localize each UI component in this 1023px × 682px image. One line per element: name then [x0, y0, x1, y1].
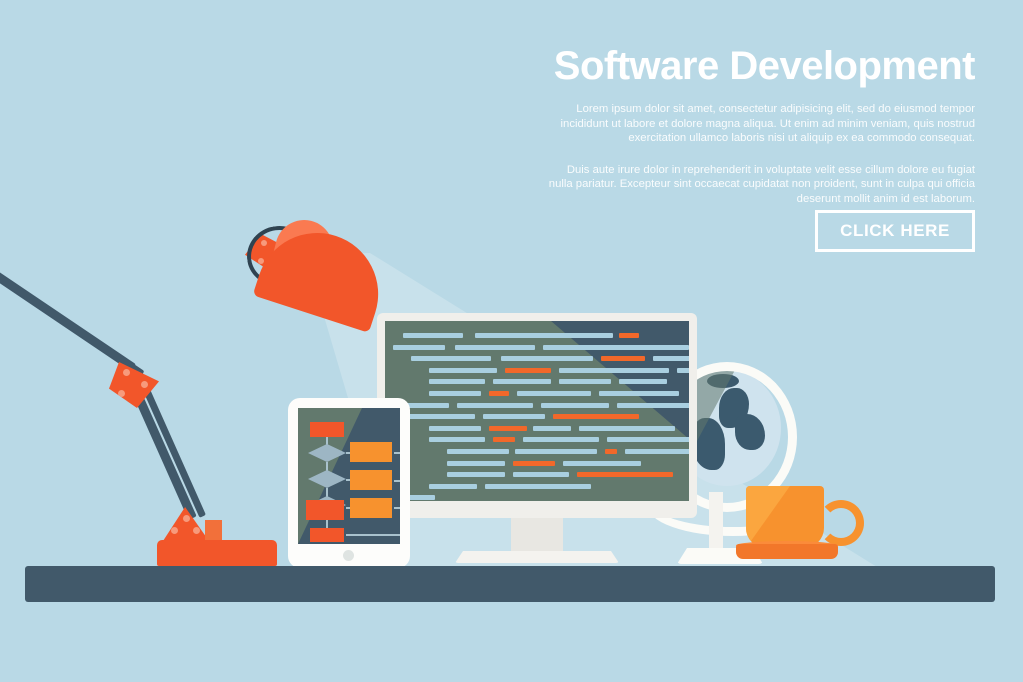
code-token — [447, 449, 509, 454]
code-token-highlight — [601, 356, 645, 361]
flowchart-connector — [346, 534, 400, 536]
code-token — [619, 379, 667, 384]
code-token — [403, 333, 463, 338]
code-token — [447, 461, 505, 466]
saucer — [736, 544, 838, 559]
flowchart-process-node — [350, 470, 392, 490]
code-token — [429, 391, 481, 396]
code-token — [483, 414, 545, 419]
code-token — [475, 333, 613, 338]
text-panel: Software Development Lorem ipsum dolor s… — [540, 44, 975, 207]
code-token-highlight — [605, 449, 617, 454]
code-token — [559, 368, 669, 373]
code-token-highlight — [577, 472, 673, 477]
body-paragraph-2: Duis aute irure dolor in reprehenderit i… — [540, 163, 975, 207]
code-token — [429, 484, 477, 489]
cup-handle — [818, 500, 864, 546]
illustration-canvas: Software Development Lorem ipsum dolor s… — [0, 0, 1023, 682]
code-token — [625, 449, 689, 454]
code-token — [579, 426, 675, 431]
desktop-monitor — [377, 313, 697, 518]
code-token — [533, 426, 571, 431]
code-token — [517, 391, 591, 396]
code-token — [407, 403, 449, 408]
code-token — [429, 437, 485, 442]
code-token — [411, 356, 491, 361]
code-token-highlight — [505, 368, 551, 373]
lamp-base — [157, 540, 277, 566]
code-token — [501, 356, 593, 361]
code-token — [457, 403, 533, 408]
code-token-highlight — [553, 414, 639, 419]
code-token — [513, 472, 569, 477]
code-token-highlight — [513, 461, 555, 466]
code-token — [515, 449, 597, 454]
tablet-screen — [298, 408, 400, 544]
code-token — [559, 379, 611, 384]
code-token — [523, 437, 599, 442]
code-token — [607, 437, 689, 442]
code-token — [599, 391, 679, 396]
code-token — [447, 472, 505, 477]
code-token — [429, 426, 481, 431]
code-token — [563, 461, 641, 466]
flowchart-process-node — [350, 442, 392, 462]
click-here-button[interactable]: CLICK HERE — [815, 210, 975, 252]
monitor-stand-base — [455, 551, 619, 563]
code-token — [543, 345, 689, 350]
cup-highlight — [746, 486, 824, 548]
code-token — [429, 368, 497, 373]
coffee-cup — [740, 486, 850, 568]
body-paragraph-1: Lorem ipsum dolor sit amet, consectetur … — [540, 102, 975, 146]
tablet-device — [288, 398, 410, 568]
monitor-screen — [385, 321, 689, 501]
code-token-highlight — [619, 333, 639, 338]
code-token-highlight — [489, 391, 509, 396]
flowchart-process-node — [310, 528, 344, 542]
code-token — [455, 345, 535, 350]
code-token — [653, 356, 689, 361]
monitor-neck — [511, 518, 563, 556]
code-token — [485, 484, 591, 489]
flowchart-connector — [326, 462, 328, 471]
flowchart-connector — [326, 488, 328, 497]
tablet-home-button[interactable] — [343, 550, 354, 561]
desk-surface — [25, 566, 995, 602]
code-token-highlight — [493, 437, 515, 442]
code-token — [493, 379, 551, 384]
page-title: Software Development — [540, 44, 975, 88]
flowchart-process-node — [306, 500, 344, 520]
code-token — [429, 379, 485, 384]
flowchart-process-node — [350, 498, 392, 518]
code-token — [617, 403, 689, 408]
cup-body — [746, 486, 824, 548]
code-token-highlight — [489, 426, 527, 431]
code-token — [393, 345, 445, 350]
code-token — [541, 403, 609, 408]
globe-stem — [709, 492, 723, 552]
flowchart-connector — [326, 437, 328, 445]
code-token — [677, 368, 689, 373]
code-token — [403, 414, 475, 419]
flowchart-process-node — [310, 422, 344, 437]
